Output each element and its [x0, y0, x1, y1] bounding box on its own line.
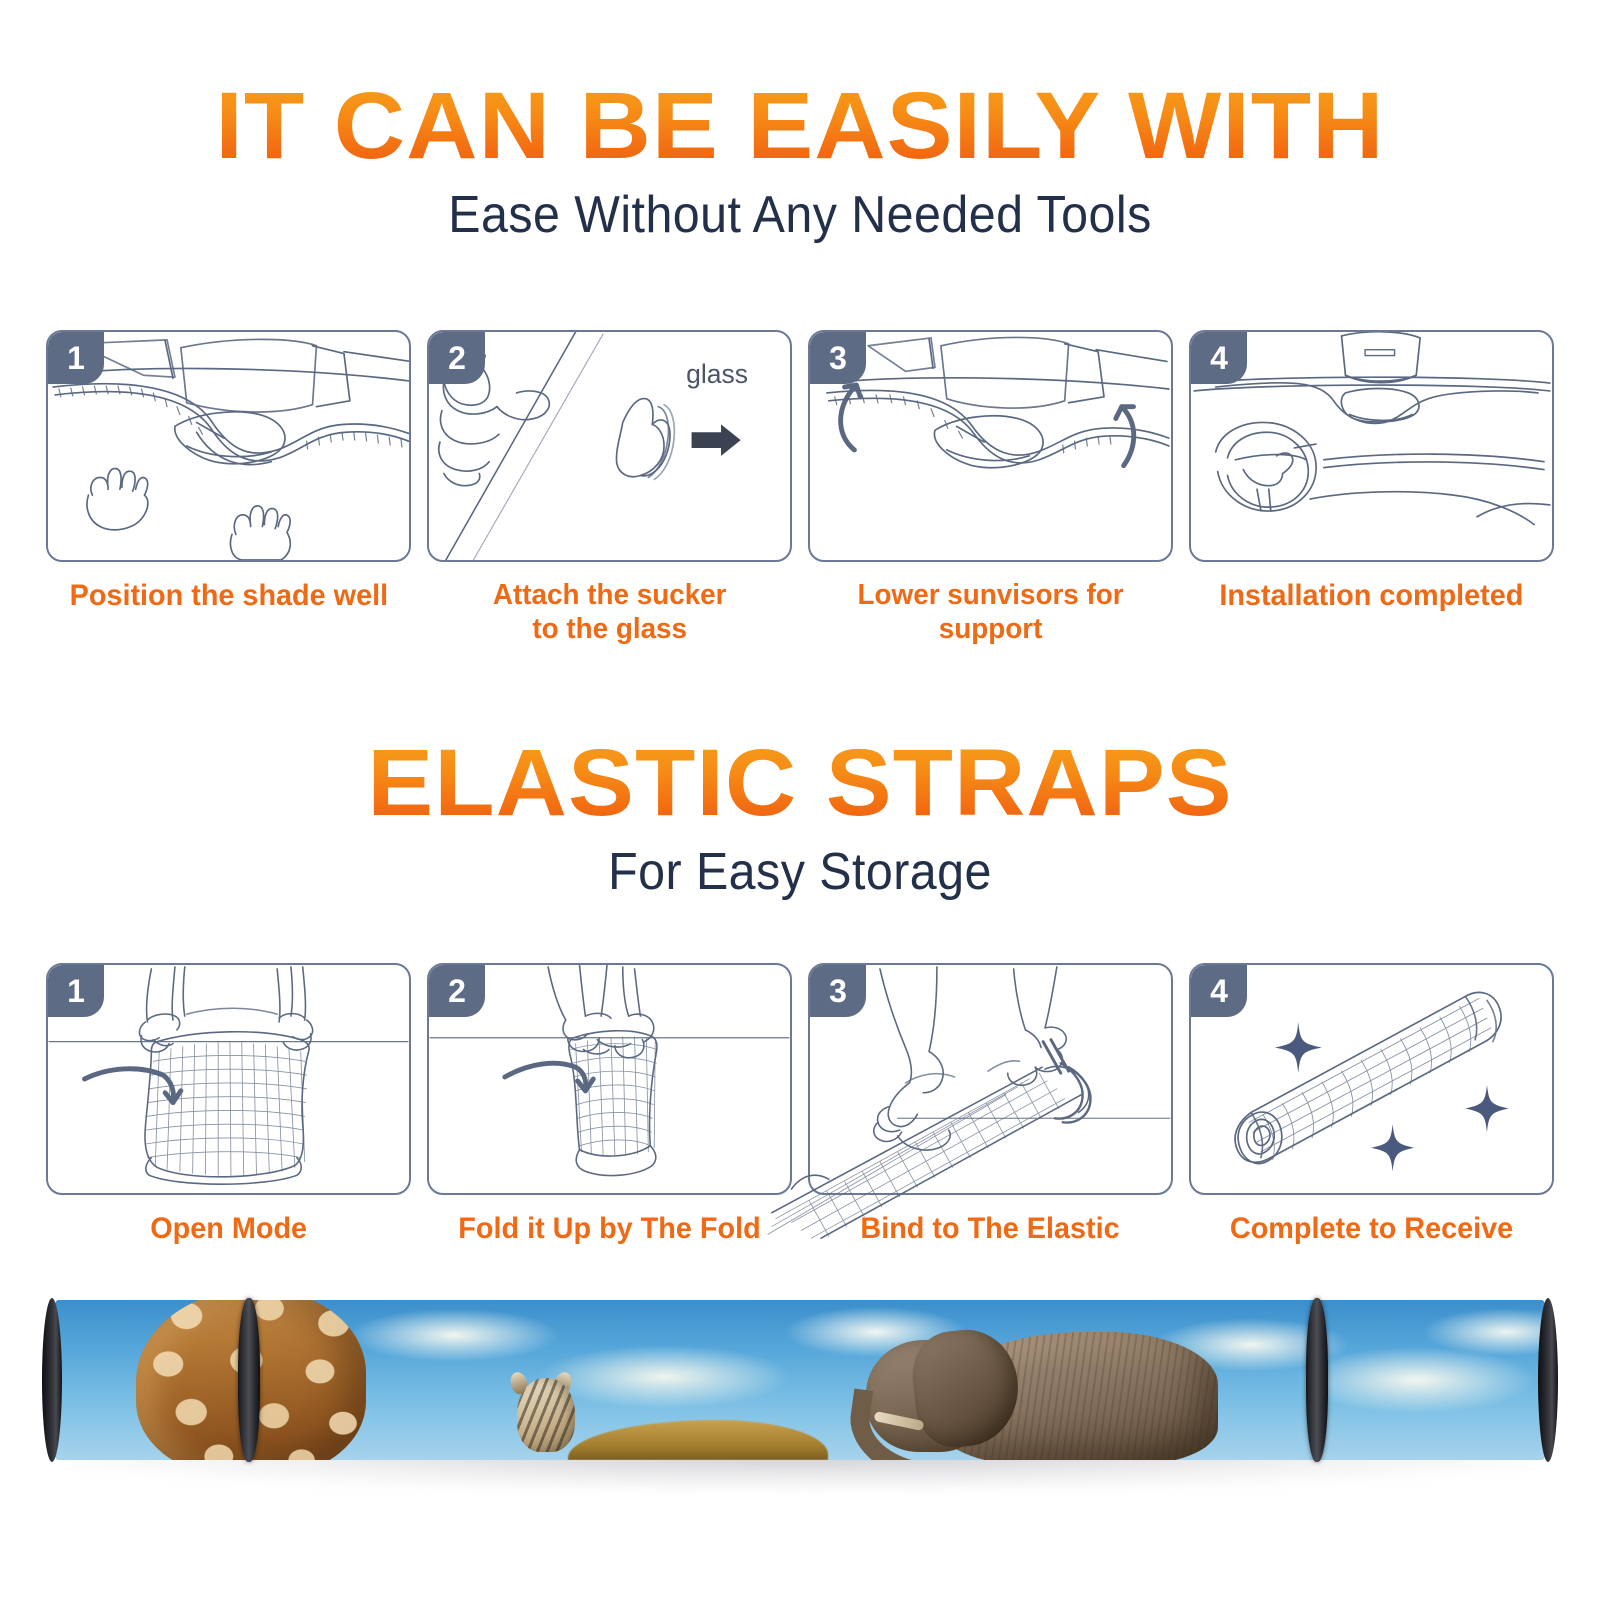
step-caption: Position the shade well	[69, 578, 387, 613]
installation-step-4[interactable]: 4	[1189, 330, 1554, 646]
zebra-print	[503, 1372, 595, 1460]
giraffe-print-zone	[48, 1300, 408, 1460]
elastic-strap-right	[1306, 1298, 1328, 1462]
storage-heading-block: ELASTIC STRAPS For Easy Storage	[0, 735, 1600, 902]
step-caption: Fold it Up by The Fold	[458, 1211, 760, 1246]
step-number-badge: 1	[48, 965, 104, 1017]
storage-step-row: 1	[46, 963, 1554, 1246]
installation-step-1[interactable]: 1	[46, 330, 411, 646]
storage-step-1[interactable]: 1	[46, 963, 411, 1246]
elephant-print	[848, 1314, 1218, 1460]
installation-headline: IT CAN BE EASILY WITH	[0, 78, 1600, 175]
zebra-head	[517, 1378, 575, 1452]
storage-step-2[interactable]: 2	[427, 963, 792, 1246]
installation-step-row: 1	[46, 330, 1554, 646]
storage-step-3[interactable]: 3	[808, 963, 1173, 1246]
installation-subheadline: Ease Without Any Needed Tools	[56, 185, 1544, 245]
step-card[interactable]: 4	[1189, 330, 1554, 562]
glass-label: glass	[686, 359, 748, 389]
step-number-badge: 1	[48, 332, 104, 384]
step-number-badge: 4	[1191, 965, 1247, 1017]
storage-headline: ELASTIC STRAPS	[0, 735, 1600, 832]
storage-step-4[interactable]: 4	[1189, 963, 1554, 1246]
roll-left-edge	[42, 1298, 62, 1462]
step-caption: Open Mode	[150, 1211, 307, 1246]
step-card[interactable]: 1	[46, 330, 411, 562]
step-caption: Bind to The Elastic	[861, 1211, 1120, 1246]
product-photo-strip	[48, 1300, 1552, 1482]
step-card[interactable]: 2	[427, 963, 792, 1195]
step-number-badge: 2	[429, 332, 485, 384]
step-card[interactable]: 4	[1189, 963, 1554, 1195]
step-number-badge: 4	[1191, 332, 1247, 384]
storage-subheadline: For Easy Storage	[56, 842, 1544, 902]
step-caption: Lower sunvisors for support	[857, 578, 1123, 646]
roll-right-edge	[1538, 1298, 1558, 1462]
step-number-badge: 2	[429, 965, 485, 1017]
installation-step-3[interactable]: 3	[808, 330, 1173, 646]
step-card[interactable]: 3	[808, 330, 1173, 562]
installation-step-2[interactable]: 2	[427, 330, 792, 646]
step-card[interactable]: 1	[46, 963, 411, 1195]
step-card[interactable]: 3	[808, 963, 1173, 1195]
step-caption: Complete to Receive	[1230, 1211, 1513, 1246]
step-card[interactable]: 2	[427, 330, 792, 562]
step-number-badge: 3	[810, 965, 866, 1017]
step-number-badge: 3	[810, 332, 866, 384]
installation-heading-block: IT CAN BE EASILY WITH Ease Without Any N…	[0, 78, 1600, 245]
step-caption: Attach the sucker to the glass	[493, 578, 727, 646]
step-caption: Installation completed	[1219, 578, 1523, 613]
elastic-strap-left	[238, 1298, 260, 1462]
